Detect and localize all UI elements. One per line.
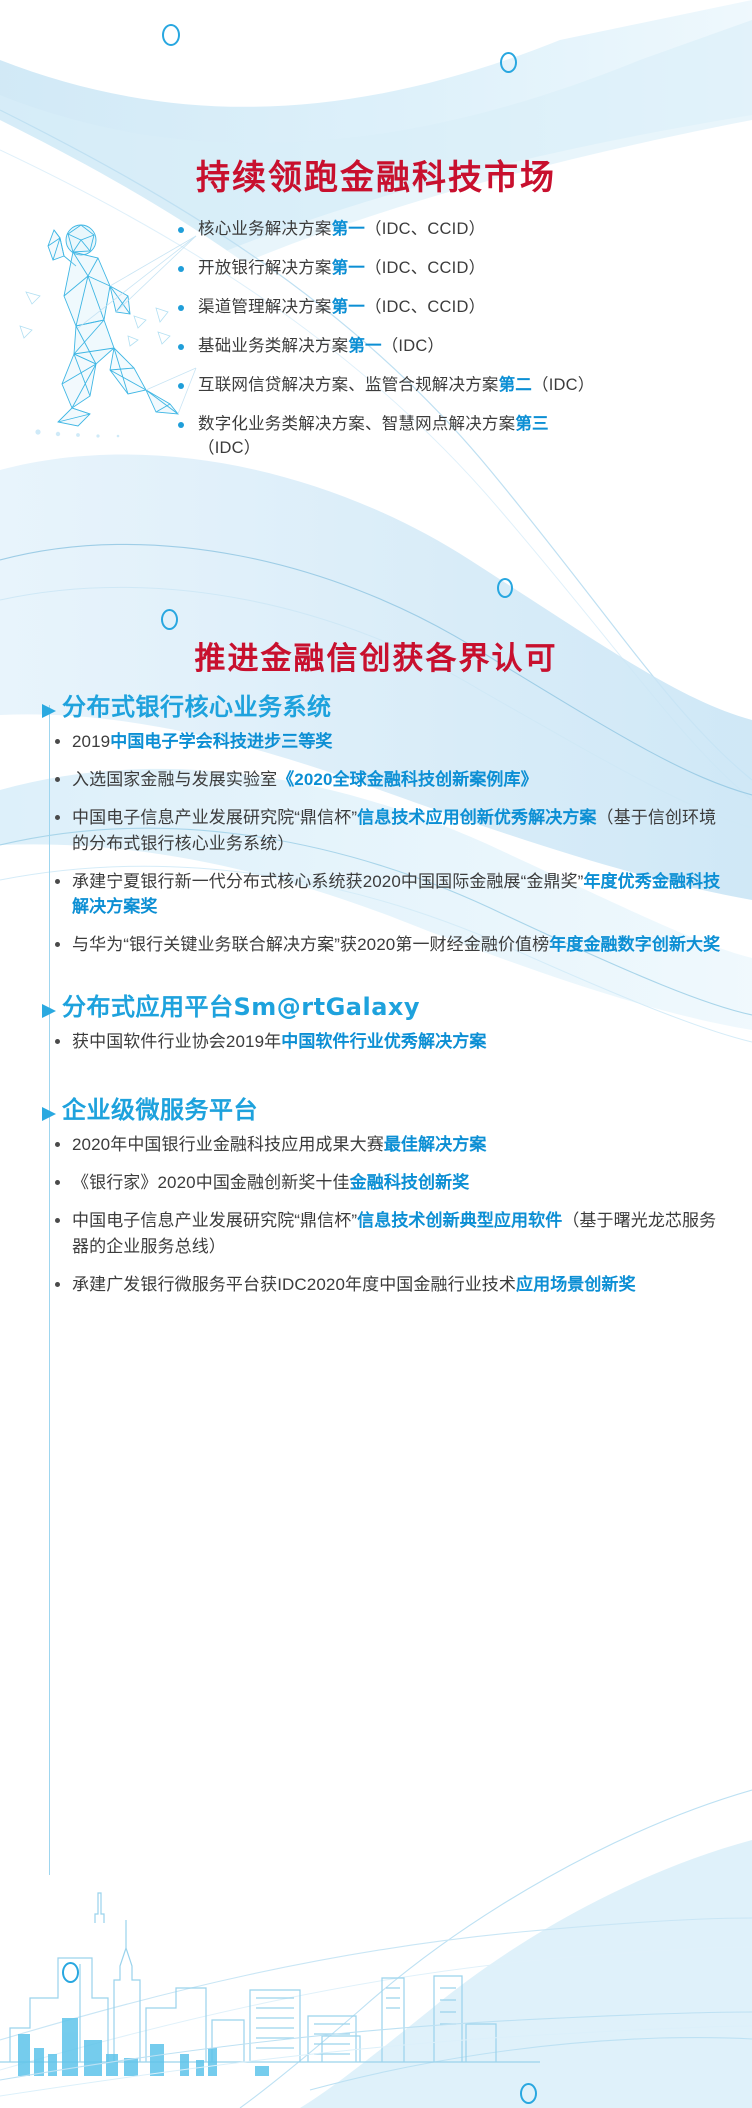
award-item-text: 入选国家金融与发展实验室《2020全球金融科技创新案例库》: [72, 770, 538, 789]
plain-text: 与华为“银行关键业务联合解决方案”获2020第一财经金融价值榜: [72, 935, 549, 954]
section1-bullet-item: 核心业务解决方案第一（IDC、CCID）: [176, 218, 596, 242]
triangle-marker-icon: [42, 1004, 56, 1018]
triangle-marker-icon: [42, 1107, 56, 1121]
award-group-heading-label: 企业级微服务平台: [62, 1096, 258, 1124]
bullet-dot-icon: [55, 879, 60, 884]
award-list-item: 入选国家金融与发展实验室《2020全球金融科技创新案例库》: [0, 767, 722, 793]
award-item-text: 2019中国电子学会科技进步三等奖: [72, 732, 333, 751]
highlight-text: 《2020全球金融科技创新案例库》: [277, 770, 538, 789]
award-group-heading: 分布式银行核心业务系统: [0, 692, 752, 723]
bullet-dot-icon: [178, 383, 184, 389]
award-item-text: 承建广发银行微服务平台获IDC2020年度中国金融行业技术应用场景创新奖: [72, 1275, 636, 1294]
highlight-text: 第二: [499, 376, 532, 394]
award-group: 分布式应用平台Sm@rtGalaxy获中国软件行业协会2019年中国软件行业优秀…: [0, 992, 752, 1055]
highlight-text: 第一: [348, 337, 381, 355]
highlight-text: 第一: [332, 259, 365, 277]
plain-text: （IDC）: [382, 337, 444, 355]
plain-text: 2020年中国银行业金融科技应用成果大赛: [72, 1135, 384, 1154]
award-group-heading: 分布式应用平台Sm@rtGalaxy: [0, 992, 752, 1023]
plain-text: 互联网信贷解决方案、监管合规解决方案: [198, 376, 499, 394]
highlight-text: 中国软件行业优秀解决方案: [281, 1032, 486, 1051]
section1-bullet-text: 基础业务类解决方案第一（IDC）: [198, 337, 444, 355]
bullet-dot-icon: [178, 227, 184, 233]
plain-text: 承建广发银行微服务平台获IDC2020年度中国金融行业技术: [72, 1275, 516, 1294]
section1-title: 持续领跑金融科技市场: [0, 150, 752, 199]
section1-bullet-text: 互联网信贷解决方案、监管合规解决方案第二（IDC）: [198, 376, 594, 394]
bullet-dot-icon: [55, 1039, 60, 1044]
award-list-item: 承建广发银行微服务平台获IDC2020年度中国金融行业技术应用场景创新奖: [0, 1272, 722, 1298]
highlight-text: 金融科技创新奖: [350, 1173, 470, 1192]
plain-text: 中国电子信息产业发展研究院“鼎信杯”: [72, 1211, 357, 1230]
bullet-dot-icon: [178, 305, 184, 311]
plain-text: 中国电子信息产业发展研究院“鼎信杯”: [72, 808, 357, 827]
section1-bullet-text: 渠道管理解决方案第一（IDC、CCID）: [198, 298, 485, 316]
award-item-text: 承建宁夏银行新一代分布式核心系统获2020中国国际金融展“金鼎奖”年度优秀金融科…: [72, 872, 720, 917]
award-list: 2019中国电子学会科技进步三等奖入选国家金融与发展实验室《2020全球金融科技…: [0, 729, 752, 958]
highlight-text: 第一: [332, 220, 365, 238]
plain-text: （IDC）: [198, 439, 260, 457]
bullet-dot-icon: [55, 1218, 60, 1223]
award-group-heading-label: 分布式应用平台Sm@rtGalaxy: [62, 993, 420, 1021]
bullet-dot-icon: [55, 1282, 60, 1287]
highlight-text: 应用场景创新奖: [516, 1275, 636, 1294]
bullet-dot-icon: [55, 942, 60, 947]
award-list: 2020年中国银行业金融科技应用成果大赛最佳解决方案《银行家》2020中国金融创…: [0, 1132, 752, 1297]
section1-bullet-item: 互联网信贷解决方案、监管合规解决方案第二（IDC）: [176, 374, 596, 398]
award-list-item: 《银行家》2020中国金融创新奖十佳金融科技创新奖: [0, 1170, 722, 1196]
award-list-item: 2019中国电子学会科技进步三等奖: [0, 729, 722, 755]
award-item-text: 中国电子信息产业发展研究院“鼎信杯”信息技术创新典型应用软件（基于曙光龙芯服务器…: [72, 1211, 716, 1256]
bullet-dot-icon: [55, 777, 60, 782]
award-group: 分布式银行核心业务系统2019中国电子学会科技进步三等奖入选国家金融与发展实验室…: [0, 692, 752, 958]
award-group-heading: 企业级微服务平台: [0, 1095, 752, 1126]
section2-title: 推进金融信创获各界认可: [0, 633, 752, 678]
section1-bullet-item: 数字化业务类解决方案、智慧网点解决方案第三（IDC）: [176, 413, 596, 461]
plain-text: （IDC）: [532, 376, 594, 394]
plain-text: 承建宁夏银行新一代分布式核心系统获2020中国国际金融展“金鼎奖”: [72, 872, 583, 891]
plain-text: 获中国软件行业协会2019年: [72, 1032, 281, 1051]
award-list-item: 2020年中国银行业金融科技应用成果大赛最佳解决方案: [0, 1132, 722, 1158]
plain-text: 2019: [72, 732, 110, 751]
plain-text: （IDC、CCID）: [365, 220, 485, 238]
award-group: 企业级微服务平台2020年中国银行业金融科技应用成果大赛最佳解决方案《银行家》2…: [0, 1095, 752, 1297]
section1-bullet-text: 核心业务解决方案第一（IDC、CCID）: [198, 220, 485, 238]
award-item-text: 2020年中国银行业金融科技应用成果大赛最佳解决方案: [72, 1135, 486, 1154]
bullet-dot-icon: [55, 1180, 60, 1185]
highlight-text: 信息技术创新典型应用软件: [357, 1211, 562, 1230]
bullet-dot-icon: [55, 1142, 60, 1147]
plain-text: 渠道管理解决方案: [198, 298, 332, 316]
plain-text: 基础业务类解决方案: [198, 337, 348, 355]
plain-text: 开放银行解决方案: [198, 259, 332, 277]
city-skyline-illustration: [0, 1848, 752, 2108]
award-item-text: 与华为“银行关键业务联合解决方案”获2020第一财经金融价值榜年度金融数字创新大…: [72, 935, 720, 954]
bullet-dot-icon: [178, 344, 184, 350]
highlight-text: 第三: [515, 415, 548, 433]
bullet-dot-icon: [55, 739, 60, 744]
bullet-dot-icon: [55, 815, 60, 820]
triangle-marker-icon: [42, 704, 56, 718]
city-skyline-svg: [0, 1848, 752, 2108]
section1-bullet-item: 基础业务类解决方案第一（IDC）: [176, 335, 596, 359]
award-list-item: 中国电子信息产业发展研究院“鼎信杯”信息技术创新典型应用软件（基于曙光龙芯服务器…: [0, 1208, 722, 1260]
section1-bullet-text: 数字化业务类解决方案、智慧网点解决方案第三（IDC）: [198, 415, 549, 457]
highlight-text: 年度金融数字创新大奖: [549, 935, 720, 954]
highlight-text: 最佳解决方案: [384, 1135, 487, 1154]
plain-text: 《银行家》2020中国金融创新奖十佳: [72, 1173, 350, 1192]
award-group-heading-label: 分布式银行核心业务系统: [62, 693, 332, 721]
highlight-text: 中国电子学会科技进步三等奖: [110, 732, 332, 751]
highlight-text: 信息技术应用创新优秀解决方案: [357, 808, 596, 827]
section1-bullet-text: 开放银行解决方案第一（IDC、CCID）: [198, 259, 485, 277]
bullet-dot-icon: [178, 422, 184, 428]
section1-bullet-item: 渠道管理解决方案第一（IDC、CCID）: [176, 296, 596, 320]
award-list-item: 中国电子信息产业发展研究院“鼎信杯”信息技术应用创新优秀解决方案（基于信创环境的…: [0, 805, 722, 857]
award-list-item: 承建宁夏银行新一代分布式核心系统获2020中国国际金融展“金鼎奖”年度优秀金融科…: [0, 869, 722, 921]
section1-bullet-item: 开放银行解决方案第一（IDC、CCID）: [176, 257, 596, 281]
award-list-item: 与华为“银行关键业务联合解决方案”获2020第一财经金融价值榜年度金融数字创新大…: [0, 932, 722, 958]
highlight-text: 第一: [332, 298, 365, 316]
award-list: 获中国软件行业协会2019年中国软件行业优秀解决方案: [0, 1029, 752, 1055]
plain-text: （IDC、CCID）: [365, 298, 485, 316]
infographic-page: 持续领跑金融科技市场: [0, 0, 752, 2108]
section-fintech-innovation-recognition: 推进金融信创获各界认可 分布式银行核心业务系统2019中国电子学会科技进步三等奖…: [0, 600, 752, 2108]
plain-text: 数字化业务类解决方案、智慧网点解决方案: [198, 415, 515, 433]
plain-text: （IDC、CCID）: [365, 259, 485, 277]
award-item-text: 《银行家》2020中国金融创新奖十佳金融科技创新奖: [72, 1173, 469, 1192]
award-item-text: 中国电子信息产业发展研究院“鼎信杯”信息技术应用创新优秀解决方案（基于信创环境的…: [72, 808, 716, 853]
plain-text: 核心业务解决方案: [198, 220, 332, 238]
award-item-text: 获中国软件行业协会2019年中国软件行业优秀解决方案: [72, 1032, 486, 1051]
section1-bullet-list: 核心业务解决方案第一（IDC、CCID）开放银行解决方案第一（IDC、CCID）…: [176, 218, 596, 475]
plain-text: 入选国家金融与发展实验室: [72, 770, 277, 789]
section2-groups: 分布式银行核心业务系统2019中国电子学会科技进步三等奖入选国家金融与发展实验室…: [0, 692, 752, 1309]
award-list-item: 获中国软件行业协会2019年中国软件行业优秀解决方案: [0, 1029, 722, 1055]
bullet-dot-icon: [178, 266, 184, 272]
section-leading-fintech-market: 持续领跑金融科技市场: [0, 0, 752, 600]
